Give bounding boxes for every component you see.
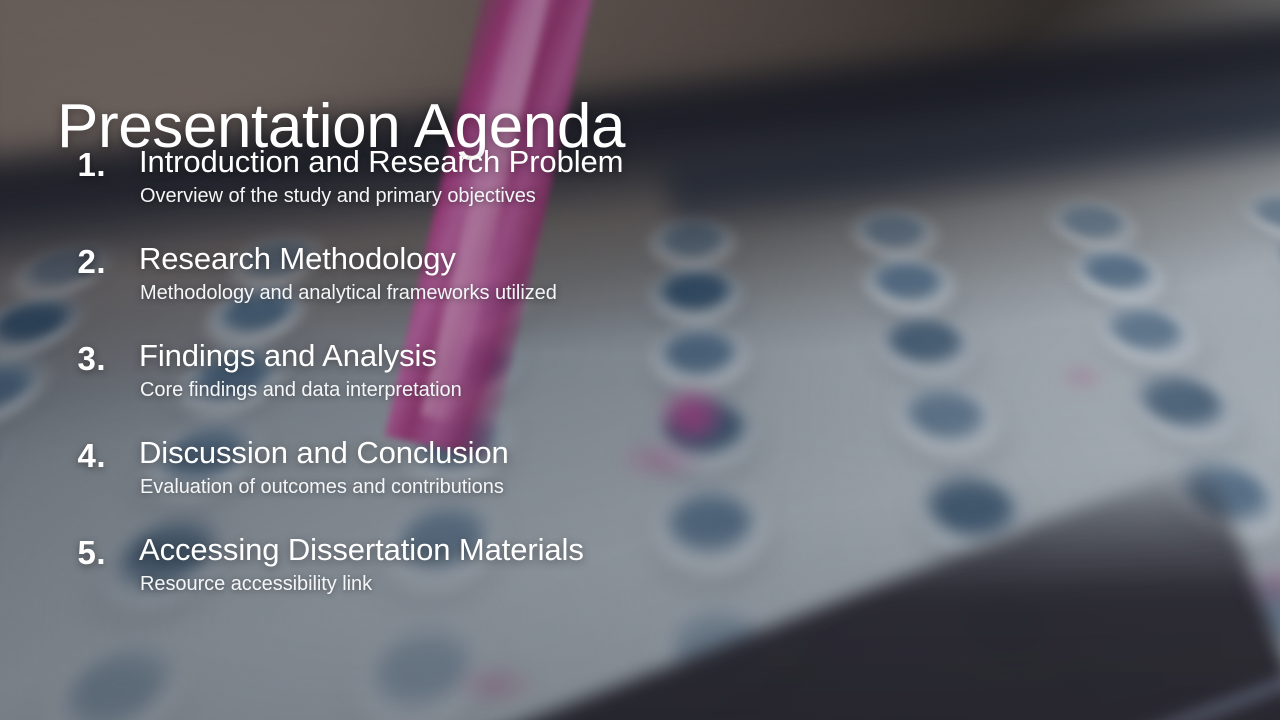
agenda-item-description: Methodology and analytical frameworks ut… [140, 281, 557, 305]
agenda-item-number: 2. [0, 243, 106, 281]
presentation-slide: Presentation Agenda 1. Introduction and … [0, 0, 1280, 720]
agenda-item-2[interactable]: 2. Research Methodology Methodology and … [0, 241, 1280, 338]
agenda-item-title: Introduction and Research Problem [139, 144, 623, 181]
slide-content: Presentation Agenda 1. Introduction and … [0, 0, 1280, 720]
agenda-item-description: Overview of the study and primary object… [140, 184, 536, 208]
agenda-list: 1. Introduction and Research Problem Ove… [0, 144, 1280, 629]
agenda-item-number: 3. [0, 340, 106, 378]
agenda-item-4[interactable]: 4. Discussion and Conclusion Evaluation … [0, 435, 1280, 532]
agenda-item-number: 1. [0, 146, 106, 184]
agenda-item-title: Findings and Analysis [139, 338, 437, 375]
agenda-item-description: Resource accessibility link [140, 572, 372, 596]
agenda-item-number: 5. [0, 534, 106, 572]
agenda-item-description: Evaluation of outcomes and contributions [140, 475, 504, 499]
agenda-item-title: Discussion and Conclusion [139, 435, 509, 472]
agenda-item-3[interactable]: 3. Findings and Analysis Core findings a… [0, 338, 1280, 435]
agenda-item-1[interactable]: 1. Introduction and Research Problem Ove… [0, 144, 1280, 241]
agenda-item-title: Research Methodology [139, 241, 456, 278]
agenda-item-title: Accessing Dissertation Materials [139, 532, 584, 569]
agenda-item-5[interactable]: 5. Accessing Dissertation Materials Reso… [0, 532, 1280, 629]
agenda-item-description: Core findings and data interpretation [140, 378, 462, 402]
agenda-item-number: 4. [0, 437, 106, 475]
